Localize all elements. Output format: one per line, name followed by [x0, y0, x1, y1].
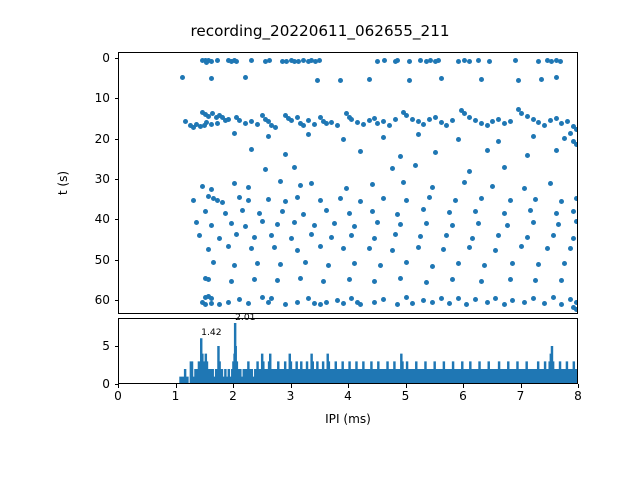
scatter-point: [571, 209, 576, 214]
scatter-point: [421, 298, 426, 303]
scatter-point: [266, 134, 271, 139]
scatter-point: [562, 261, 567, 266]
scatter-point: [352, 224, 357, 229]
scatter-point: [206, 194, 211, 199]
scatter-point: [280, 209, 285, 214]
scatter-point: [252, 277, 257, 282]
scatter-point: [450, 223, 455, 228]
scatter-point: [255, 261, 260, 266]
scatter-point: [467, 115, 472, 120]
scatter-point: [347, 211, 352, 216]
scatter-point: [237, 195, 242, 200]
scatter-point: [525, 114, 530, 119]
scatter-point: [531, 117, 536, 122]
scatter-point: [318, 302, 323, 307]
scatter-point: [317, 58, 322, 63]
scatter-point: [462, 58, 467, 63]
scatter-point: [473, 209, 478, 214]
scatter-point: [382, 58, 387, 63]
x-tick-mark: [176, 384, 177, 388]
scatter-point: [344, 186, 349, 191]
scatter-point: [574, 127, 577, 132]
scatter-point: [401, 180, 406, 185]
scatter-point: [217, 302, 222, 307]
y-tick-mark: [115, 300, 119, 301]
scatter-point: [215, 58, 220, 63]
scatter-point: [347, 277, 352, 282]
scatter-point: [390, 248, 395, 253]
scatter-point: [249, 58, 254, 63]
scatter-point: [229, 279, 234, 284]
x-tick-mark: [578, 384, 579, 388]
scatter-point: [562, 136, 567, 141]
scatter-point: [229, 221, 234, 226]
scatter-point: [395, 212, 400, 217]
scatter-point: [416, 119, 421, 124]
scatter-point: [456, 296, 461, 301]
scatter-point: [453, 198, 458, 203]
scatter-point: [295, 115, 300, 120]
scatter-point: [257, 211, 262, 216]
scatter-point: [485, 123, 490, 128]
x-tick-label: 2: [213, 390, 253, 402]
scatter-point: [312, 301, 317, 306]
scatter-point: [204, 60, 209, 65]
scatter-point: [390, 166, 395, 171]
scatter-point: [226, 300, 231, 305]
scatter-point: [220, 200, 225, 205]
scatter-point: [398, 154, 403, 159]
scatter-point: [358, 302, 363, 307]
scatter-point: [508, 119, 513, 124]
scatter-point: [436, 58, 441, 63]
scatter-point: [217, 236, 222, 241]
scatter-point: [525, 153, 530, 158]
peak-annotation: 1.42: [201, 328, 221, 338]
scatter-point: [421, 207, 426, 212]
scatter-point: [439, 296, 444, 301]
scatter-point: [367, 77, 372, 82]
x-tick-label: 5: [386, 390, 426, 402]
ipi-raster-axes: [118, 52, 578, 314]
scatter-point: [260, 219, 265, 224]
scatter-point: [413, 163, 418, 168]
scatter-point: [295, 195, 300, 200]
scatter-point: [372, 300, 377, 305]
scatter-point: [246, 185, 251, 190]
scatter-point: [421, 122, 426, 127]
scatter-point: [292, 165, 297, 170]
scatter-point: [441, 247, 446, 252]
scatter-point: [404, 260, 409, 265]
x-tick-label: 8: [558, 390, 598, 402]
scatter-point: [206, 247, 211, 252]
scatter-point: [565, 119, 570, 124]
scatter-point: [309, 181, 314, 186]
x-tick-label: 7: [501, 390, 541, 402]
scatter-point: [467, 59, 472, 64]
scatter-point: [568, 297, 573, 302]
ipi-raster-points-layer: [119, 53, 577, 313]
scatter-point: [433, 150, 438, 155]
scatter-point: [516, 78, 521, 83]
scatter-point: [430, 264, 435, 269]
scatter-point: [395, 302, 400, 307]
scatter-point: [341, 137, 346, 142]
scatter-point: [349, 233, 354, 238]
scatter-point: [200, 184, 205, 189]
scatter-point: [387, 123, 392, 128]
scatter-point: [341, 246, 346, 251]
scatter-point: [525, 235, 530, 240]
scatter-point: [551, 233, 556, 238]
y-tick-mark: [115, 219, 119, 220]
scatter-point: [372, 279, 377, 284]
y-tick-label: 40: [70, 213, 110, 225]
scatter-point: [444, 123, 449, 128]
scatter-point: [439, 120, 444, 125]
x-axis-label: IPI (ms): [118, 412, 578, 426]
scatter-point: [243, 224, 248, 229]
scatter-point: [554, 75, 559, 80]
scatter-point: [393, 117, 398, 122]
x-tick-label: 1: [156, 390, 196, 402]
scatter-point: [375, 121, 380, 126]
scatter-point: [450, 277, 455, 282]
scatter-point: [338, 78, 343, 83]
scatter-point: [473, 297, 478, 302]
hist-y-tick-mark: [115, 346, 119, 347]
scatter-point: [194, 220, 199, 225]
scatter-point: [197, 233, 202, 238]
scatter-point: [536, 59, 541, 64]
scatter-point: [476, 221, 481, 226]
scatter-point: [226, 117, 231, 122]
scatter-point: [464, 302, 469, 307]
scatter-point: [252, 235, 257, 240]
scatter-point: [416, 245, 421, 250]
scatter-point: [447, 210, 452, 215]
scatter-point: [249, 147, 254, 152]
scatter-point: [318, 198, 323, 203]
hist-y-tick-mark: [115, 384, 119, 385]
scatter-point: [349, 296, 354, 301]
scatter-point: [255, 122, 260, 127]
scatter-point: [510, 298, 515, 303]
scatter-point: [335, 298, 340, 303]
scatter-point: [430, 185, 435, 190]
scatter-point: [456, 137, 461, 142]
scatter-point: [404, 198, 409, 203]
scatter-point: [278, 179, 283, 184]
scatter-point: [485, 300, 490, 305]
scatter-point: [283, 199, 288, 204]
scatter-point: [283, 152, 288, 157]
scatter-point: [324, 121, 329, 126]
scatter-point: [329, 120, 334, 125]
scatter-point: [548, 118, 553, 123]
scatter-point: [479, 121, 484, 126]
x-tick-mark: [521, 384, 522, 388]
scatter-point: [502, 165, 507, 170]
scatter-point: [381, 196, 386, 201]
scatter-point: [358, 199, 363, 204]
y-tick-mark: [115, 98, 119, 99]
scatter-point: [249, 119, 254, 124]
scatter-point: [295, 300, 300, 305]
scatter-point: [559, 302, 564, 307]
scatter-point: [349, 117, 354, 122]
scatter-point: [292, 220, 297, 225]
scatter-point: [306, 118, 311, 123]
scatter-point: [531, 220, 536, 225]
scatter-point: [312, 122, 317, 127]
scatter-point: [243, 121, 248, 126]
y-tick-mark: [115, 260, 119, 261]
scatter-point: [338, 196, 343, 201]
scatter-point: [269, 233, 274, 238]
scatter-point: [554, 148, 559, 153]
scatter-point: [462, 111, 467, 116]
scatter-point: [447, 301, 452, 306]
scatter-point: [559, 121, 564, 126]
x-tick-mark: [406, 384, 407, 388]
scatter-point: [275, 278, 280, 283]
scatter-point: [237, 118, 242, 123]
scatter-point: [418, 234, 423, 239]
scatter-point: [407, 59, 412, 64]
scatter-point: [508, 277, 513, 282]
scatter-point: [439, 76, 444, 81]
scatter-point: [283, 302, 288, 307]
scatter-point: [418, 58, 423, 63]
scatter-point: [539, 77, 544, 82]
scatter-point: [531, 134, 536, 139]
scatter-point: [398, 222, 403, 227]
scatter-point: [536, 262, 541, 267]
scatter-point: [232, 263, 237, 268]
scatter-point: [398, 276, 403, 281]
scatter-point: [508, 198, 513, 203]
scatter-point: [433, 115, 438, 120]
y-tick-mark: [115, 139, 119, 140]
scatter-point: [536, 120, 541, 125]
scatter-point: [234, 232, 239, 237]
scatter-point: [183, 119, 188, 124]
scatter-point: [424, 221, 429, 226]
scatter-point: [180, 75, 185, 80]
y-tick-label: 50: [70, 254, 110, 266]
scatter-point: [246, 198, 251, 203]
scatter-point: [318, 244, 323, 249]
scatter-point: [395, 58, 400, 63]
scatter-point: [444, 233, 449, 238]
scatter-point: [559, 278, 564, 283]
scatter-point: [289, 236, 294, 241]
scatter-point: [476, 58, 481, 63]
scatter-point: [309, 232, 314, 237]
scatter-point: [301, 212, 306, 217]
scatter-point: [266, 197, 271, 202]
scatter-point: [381, 135, 386, 140]
scatter-point: [556, 222, 561, 227]
scatter-point: [462, 180, 467, 185]
hist-y-tick-label: 0: [70, 378, 110, 390]
scatter-point: [490, 184, 495, 189]
scatter-point: [209, 223, 214, 228]
scatter-point: [522, 186, 527, 191]
scatter-point: [568, 131, 573, 136]
scatter-point: [232, 181, 237, 186]
scatter-point: [321, 279, 326, 284]
scatter-point: [502, 121, 507, 126]
y-tick-mark: [115, 179, 119, 180]
scatter-point: [574, 196, 577, 201]
x-tick-mark: [348, 384, 349, 388]
scatter-point: [240, 208, 245, 213]
scatter-point: [470, 236, 475, 241]
y-tick-label: 30: [70, 173, 110, 185]
scatter-point: [568, 246, 573, 251]
ipi-histogram-axes: [118, 318, 578, 384]
scatter-point: [370, 182, 375, 187]
scatter-point: [450, 118, 455, 123]
scatter-point: [531, 296, 536, 301]
scatter-point: [249, 246, 254, 251]
scatter-point: [493, 248, 498, 253]
ipi-histogram-line-layer: [119, 319, 577, 383]
scatter-point: [574, 142, 577, 147]
scatter-point: [430, 300, 435, 305]
scatter-point: [301, 58, 306, 63]
scatter-point: [571, 236, 576, 241]
y-axis-label: t (s): [56, 153, 70, 213]
scatter-point: [404, 113, 409, 118]
scatter-point: [324, 208, 329, 213]
scatter-point: [329, 235, 334, 240]
scatter-point: [326, 263, 331, 268]
scatter-point: [341, 301, 346, 306]
scatter-point: [289, 118, 294, 123]
scatter-point: [410, 117, 415, 122]
peak-annotation: 2.01: [235, 313, 255, 323]
scatter-point: [355, 120, 360, 125]
scatter-point: [352, 261, 357, 266]
scatter-point: [234, 59, 239, 64]
scatter-point: [203, 209, 208, 214]
x-tick-label: 4: [328, 390, 368, 402]
x-tick-mark: [463, 384, 464, 388]
scatter-point: [542, 123, 547, 128]
scatter-point: [273, 125, 278, 130]
scatter-point: [496, 233, 501, 238]
scatter-point: [485, 148, 490, 153]
scatter-point: [191, 198, 196, 203]
scatter-point: [209, 301, 214, 306]
y-tick-label: 60: [70, 294, 110, 306]
scatter-point: [372, 236, 377, 241]
scatter-point: [479, 196, 484, 201]
scatter-point: [312, 223, 317, 228]
scatter-point: [211, 260, 216, 265]
scatter-point: [505, 223, 510, 228]
scatter-point: [482, 263, 487, 268]
scatter-point: [209, 59, 214, 64]
scatter-point: [263, 167, 268, 172]
scatter-point: [381, 297, 386, 302]
scatter-point: [295, 248, 300, 253]
scatter-point: [456, 261, 461, 266]
scatter-point: [427, 195, 432, 200]
scatter-point: [246, 301, 251, 306]
scatter-point: [496, 117, 501, 122]
scatter-point: [496, 139, 501, 144]
scatter-point: [528, 208, 533, 213]
scatter-point: [375, 220, 380, 225]
scatter-point: [278, 262, 283, 267]
scatter-point: [519, 244, 524, 249]
scatter-point: [226, 244, 231, 249]
scatter-point: [260, 295, 265, 300]
scatter-point: [554, 211, 559, 216]
scatter-point: [223, 211, 228, 216]
scatter-point: [404, 295, 409, 300]
scatter-point: [243, 75, 248, 80]
scatter-point: [574, 219, 577, 224]
scatter-point: [522, 300, 527, 305]
scatter-point: [301, 123, 306, 128]
x-tick-mark: [118, 384, 119, 388]
scatter-point: [378, 263, 383, 268]
y-tick-label: 20: [70, 133, 110, 145]
scatter-point: [367, 118, 372, 123]
scatter-point: [479, 279, 484, 284]
y-tick-label: 0: [70, 52, 110, 64]
scatter-point: [548, 181, 553, 186]
scatter-point: [367, 246, 372, 251]
scatter-point: [298, 276, 303, 281]
scatter-point: [519, 111, 524, 116]
scatter-point: [324, 300, 329, 305]
scatter-point: [303, 260, 308, 265]
scatter-point: [206, 277, 211, 282]
scatter-point: [315, 78, 320, 83]
x-tick-mark: [233, 384, 234, 388]
scatter-point: [237, 297, 242, 302]
scatter-point: [558, 59, 563, 64]
x-tick-label: 0: [98, 390, 138, 402]
x-tick-label: 3: [271, 390, 311, 402]
scatter-point: [407, 78, 412, 83]
scatter-point: [533, 278, 538, 283]
scatter-point: [467, 245, 472, 250]
scatter-point: [215, 121, 220, 126]
y-tick-mark: [115, 58, 119, 59]
scatter-point: [306, 296, 311, 301]
scatter-point: [191, 125, 196, 130]
scatter-point: [456, 59, 461, 64]
scatter-point: [358, 149, 363, 154]
scatter-point: [554, 116, 559, 121]
scatter-point: [332, 221, 337, 226]
scatter-point: [487, 59, 492, 64]
scatter-point: [203, 302, 208, 307]
scatter-point: [502, 211, 507, 216]
hist-y-tick-label: 5: [70, 340, 110, 352]
scatter-point: [479, 77, 484, 82]
scatter-point: [467, 169, 472, 174]
scatter-point: [306, 132, 311, 137]
